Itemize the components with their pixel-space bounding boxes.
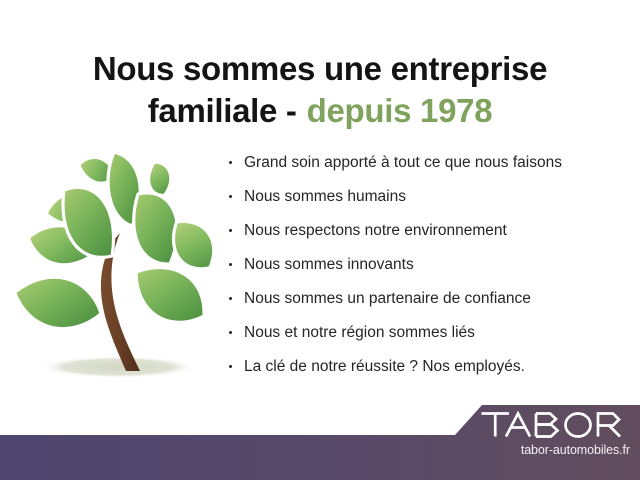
list-item-label: Nous sommes un partenaire de confiance	[244, 290, 531, 307]
page-title: Nous sommes une entreprise familiale -de…	[0, 48, 640, 132]
bullet-dot-icon	[229, 365, 232, 368]
title-accent-since: depuis 1978	[307, 92, 493, 129]
bullet-dot-icon	[229, 297, 232, 300]
slide-canvas: Nous sommes une entreprise familiale -de…	[0, 0, 640, 480]
list-item: La clé de notre réussite ? Nos employés.	[228, 356, 628, 378]
brand-tagline: tabor-automobiles.fr	[470, 443, 630, 458]
bullet-dot-icon	[229, 331, 232, 334]
list-item-label: Nous respectons notre environnement	[244, 222, 507, 239]
bullet-dot-icon	[229, 161, 232, 164]
list-item: Nous sommes humains	[228, 186, 628, 208]
tabor-wordmark-logo	[480, 410, 630, 440]
bullet-dot-icon	[229, 195, 232, 198]
list-item-label: Grand soin apporté à tout ce que nous fa…	[244, 154, 562, 171]
list-item: Grand soin apporté à tout ce que nous fa…	[228, 152, 628, 174]
list-item: Nous sommes innovants	[228, 254, 628, 276]
list-item-label: Nous sommes innovants	[244, 256, 414, 273]
list-item-label: Nous sommes humains	[244, 188, 406, 205]
family-tree-illustration	[8, 140, 226, 390]
list-item: Nous et notre région sommes liés	[228, 322, 628, 344]
list-item-label: La clé de notre réussite ? Nos employés.	[244, 358, 525, 375]
list-item: Nous respectons notre environnement	[228, 220, 628, 242]
tree-shadow	[40, 356, 196, 378]
bullet-dot-icon	[229, 263, 232, 266]
title-line-2: familiale -depuis 1978	[0, 90, 640, 132]
title-line-1: Nous sommes une entreprise	[0, 48, 640, 90]
value-points-list: Grand soin apporté à tout ce que nous fa…	[228, 152, 628, 378]
list-item-label: Nous et notre région sommes liés	[244, 324, 475, 341]
brand-lockup[interactable]: tabor-automobiles.fr	[470, 410, 630, 458]
bullet-dot-icon	[229, 229, 232, 232]
list-item: Nous sommes un partenaire de confiance	[228, 288, 628, 310]
title-line-2-main: familiale -	[148, 92, 297, 129]
